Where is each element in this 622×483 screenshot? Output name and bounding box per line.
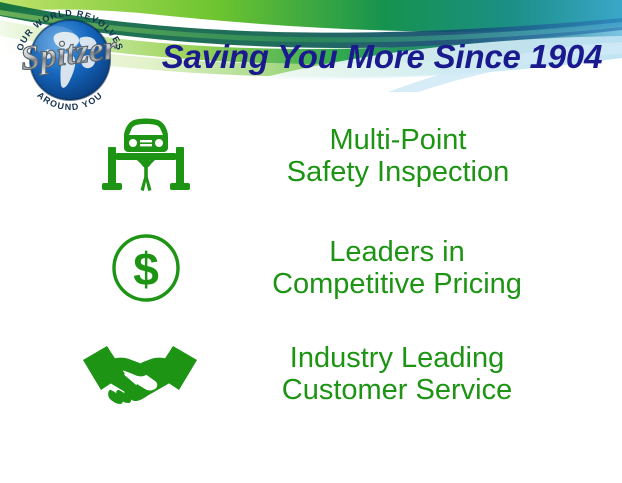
dollar-circle-icon: $: [86, 231, 206, 305]
feature-line-2: Competitive Pricing: [208, 268, 586, 300]
feature-label-safety-inspection: Multi-Point Safety Inspection: [206, 124, 586, 189]
feature-line-1: Leaders in: [208, 236, 586, 268]
feature-line-1: Multi-Point: [210, 124, 586, 156]
feature-row-competitive-pricing: $ Leaders in Competitive Pricing: [86, 222, 586, 314]
page-title: Saving You More Since 1904: [148, 38, 616, 76]
feature-line-1: Industry Leading: [208, 342, 586, 374]
feature-line-2: Customer Service: [208, 374, 586, 406]
slide-canvas: OUR WORLD REVOLVES AROUND YOU Spitzer Sa…: [0, 0, 622, 483]
spitzer-logo: OUR WORLD REVOLVES AROUND YOU Spitzer: [6, 4, 134, 116]
car-lift-icon: [86, 114, 206, 198]
handshake-icon: [74, 338, 206, 410]
feature-label-customer-service: Industry Leading Customer Service: [206, 342, 586, 407]
feature-label-competitive-pricing: Leaders in Competitive Pricing: [206, 236, 586, 301]
svg-text:$: $: [133, 243, 159, 295]
feature-row-safety-inspection: Multi-Point Safety Inspection: [86, 110, 586, 202]
feature-line-2: Safety Inspection: [210, 156, 586, 188]
feature-row-customer-service: Industry Leading Customer Service: [74, 328, 586, 420]
